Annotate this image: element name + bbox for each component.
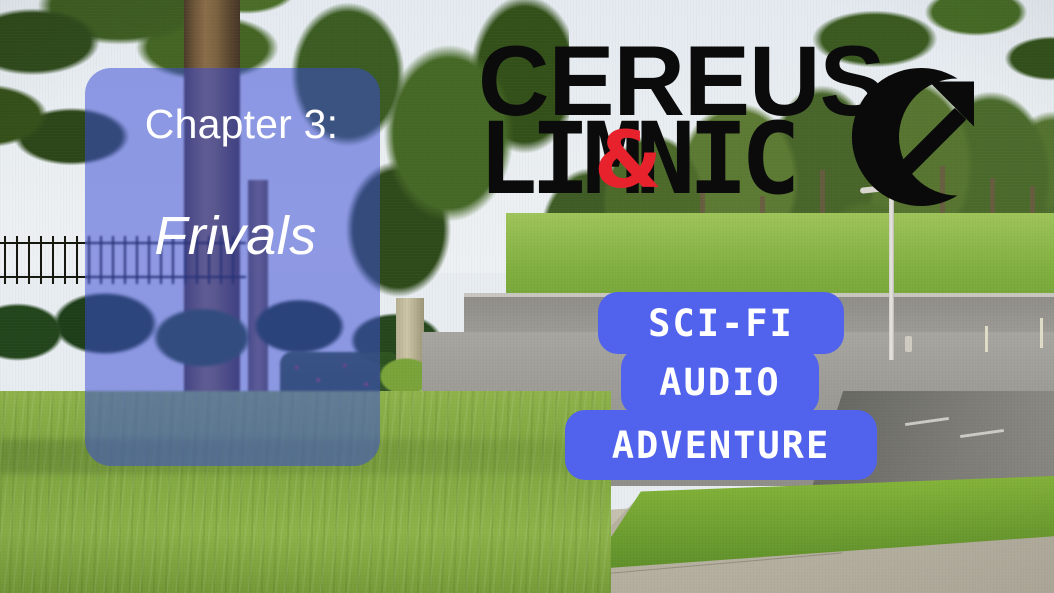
show-title: CEREUS LIMNIC & bbox=[478, 38, 818, 202]
ampersand: & bbox=[594, 122, 661, 200]
badge-line-audio: AUDIO bbox=[621, 348, 819, 416]
fire-hydrant bbox=[905, 336, 912, 352]
badge-line-adventure: ADVENTURE bbox=[565, 410, 877, 480]
survey-marker bbox=[985, 326, 988, 352]
chapter-label: Chapter 3: bbox=[85, 102, 380, 147]
survey-marker bbox=[1040, 318, 1043, 348]
chapter-card: Chapter 3: Frivals bbox=[85, 68, 380, 466]
crescent-moon-arrow-icon bbox=[845, 58, 995, 216]
genre-badge: SCI-FI AUDIO ADVENTURE bbox=[560, 292, 880, 488]
title-card-stage: Chapter 3: Frivals CEREUS LIMNIC & SCI-F… bbox=[0, 0, 1054, 593]
chapter-title: Frivals bbox=[85, 205, 380, 267]
badge-line-sci-fi: SCI-FI bbox=[598, 292, 844, 354]
show-title-line-1: CEREUS bbox=[478, 38, 818, 123]
